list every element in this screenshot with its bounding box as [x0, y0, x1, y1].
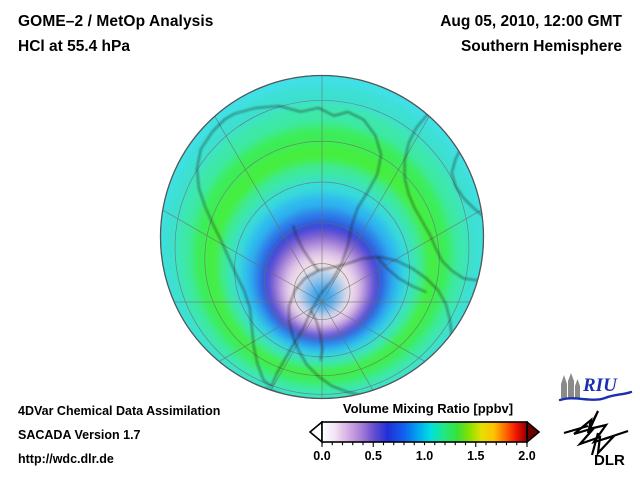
- colorbar-title: Volume Mixing Ratio [ppbv]: [318, 401, 538, 416]
- timestamp-label: Aug 05, 2010, 12:00 GMT: [440, 13, 622, 31]
- colorbar-ticks: [322, 442, 527, 447]
- footer-line-version: SACADA Version 1.7: [18, 428, 141, 442]
- polar-map: [159, 74, 485, 400]
- colorbar-svg: [308, 421, 542, 447]
- riu-logo-svg: RIU: [557, 372, 633, 404]
- riu-tower-icon: [561, 373, 580, 398]
- dlr-wordmark: DLR: [594, 452, 625, 467]
- colorbar-tick-label: 1.5: [467, 449, 484, 463]
- colorbar-gradient: [322, 422, 527, 442]
- page-subtitle: HCl at 55.4 hPa: [18, 38, 130, 56]
- footer-line-method: 4DVar Chemical Data Assimilation: [18, 404, 220, 418]
- colorbar-tick-labels: 0.00.51.01.52.0: [308, 449, 542, 467]
- colorbar-high-arrow: [527, 422, 539, 442]
- dlr-emblem-icon: [564, 411, 628, 455]
- riu-logo: RIU: [557, 372, 633, 404]
- colorbar-tick-label: 0.0: [313, 449, 330, 463]
- dlr-logo-svg: DLR: [558, 409, 634, 467]
- footer-line-url[interactable]: http://wdc.dlr.de: [18, 452, 114, 466]
- colorbar-low-arrow: [310, 422, 322, 442]
- figure-panel: GOME–2 / MetOp Analysis HCl at 55.4 hPa …: [0, 0, 640, 480]
- colorbar: [308, 421, 542, 447]
- colorbar-tick-label: 0.5: [365, 449, 382, 463]
- riu-wordmark: RIU: [582, 375, 618, 396]
- dlr-logo: DLR: [558, 409, 634, 467]
- hemisphere-label: Southern Hemisphere: [461, 38, 622, 56]
- polar-map-svg: [159, 74, 485, 400]
- colorbar-tick-label: 1.0: [416, 449, 433, 463]
- page-title: GOME–2 / MetOp Analysis: [18, 13, 214, 31]
- colorbar-tick-label: 2.0: [518, 449, 535, 463]
